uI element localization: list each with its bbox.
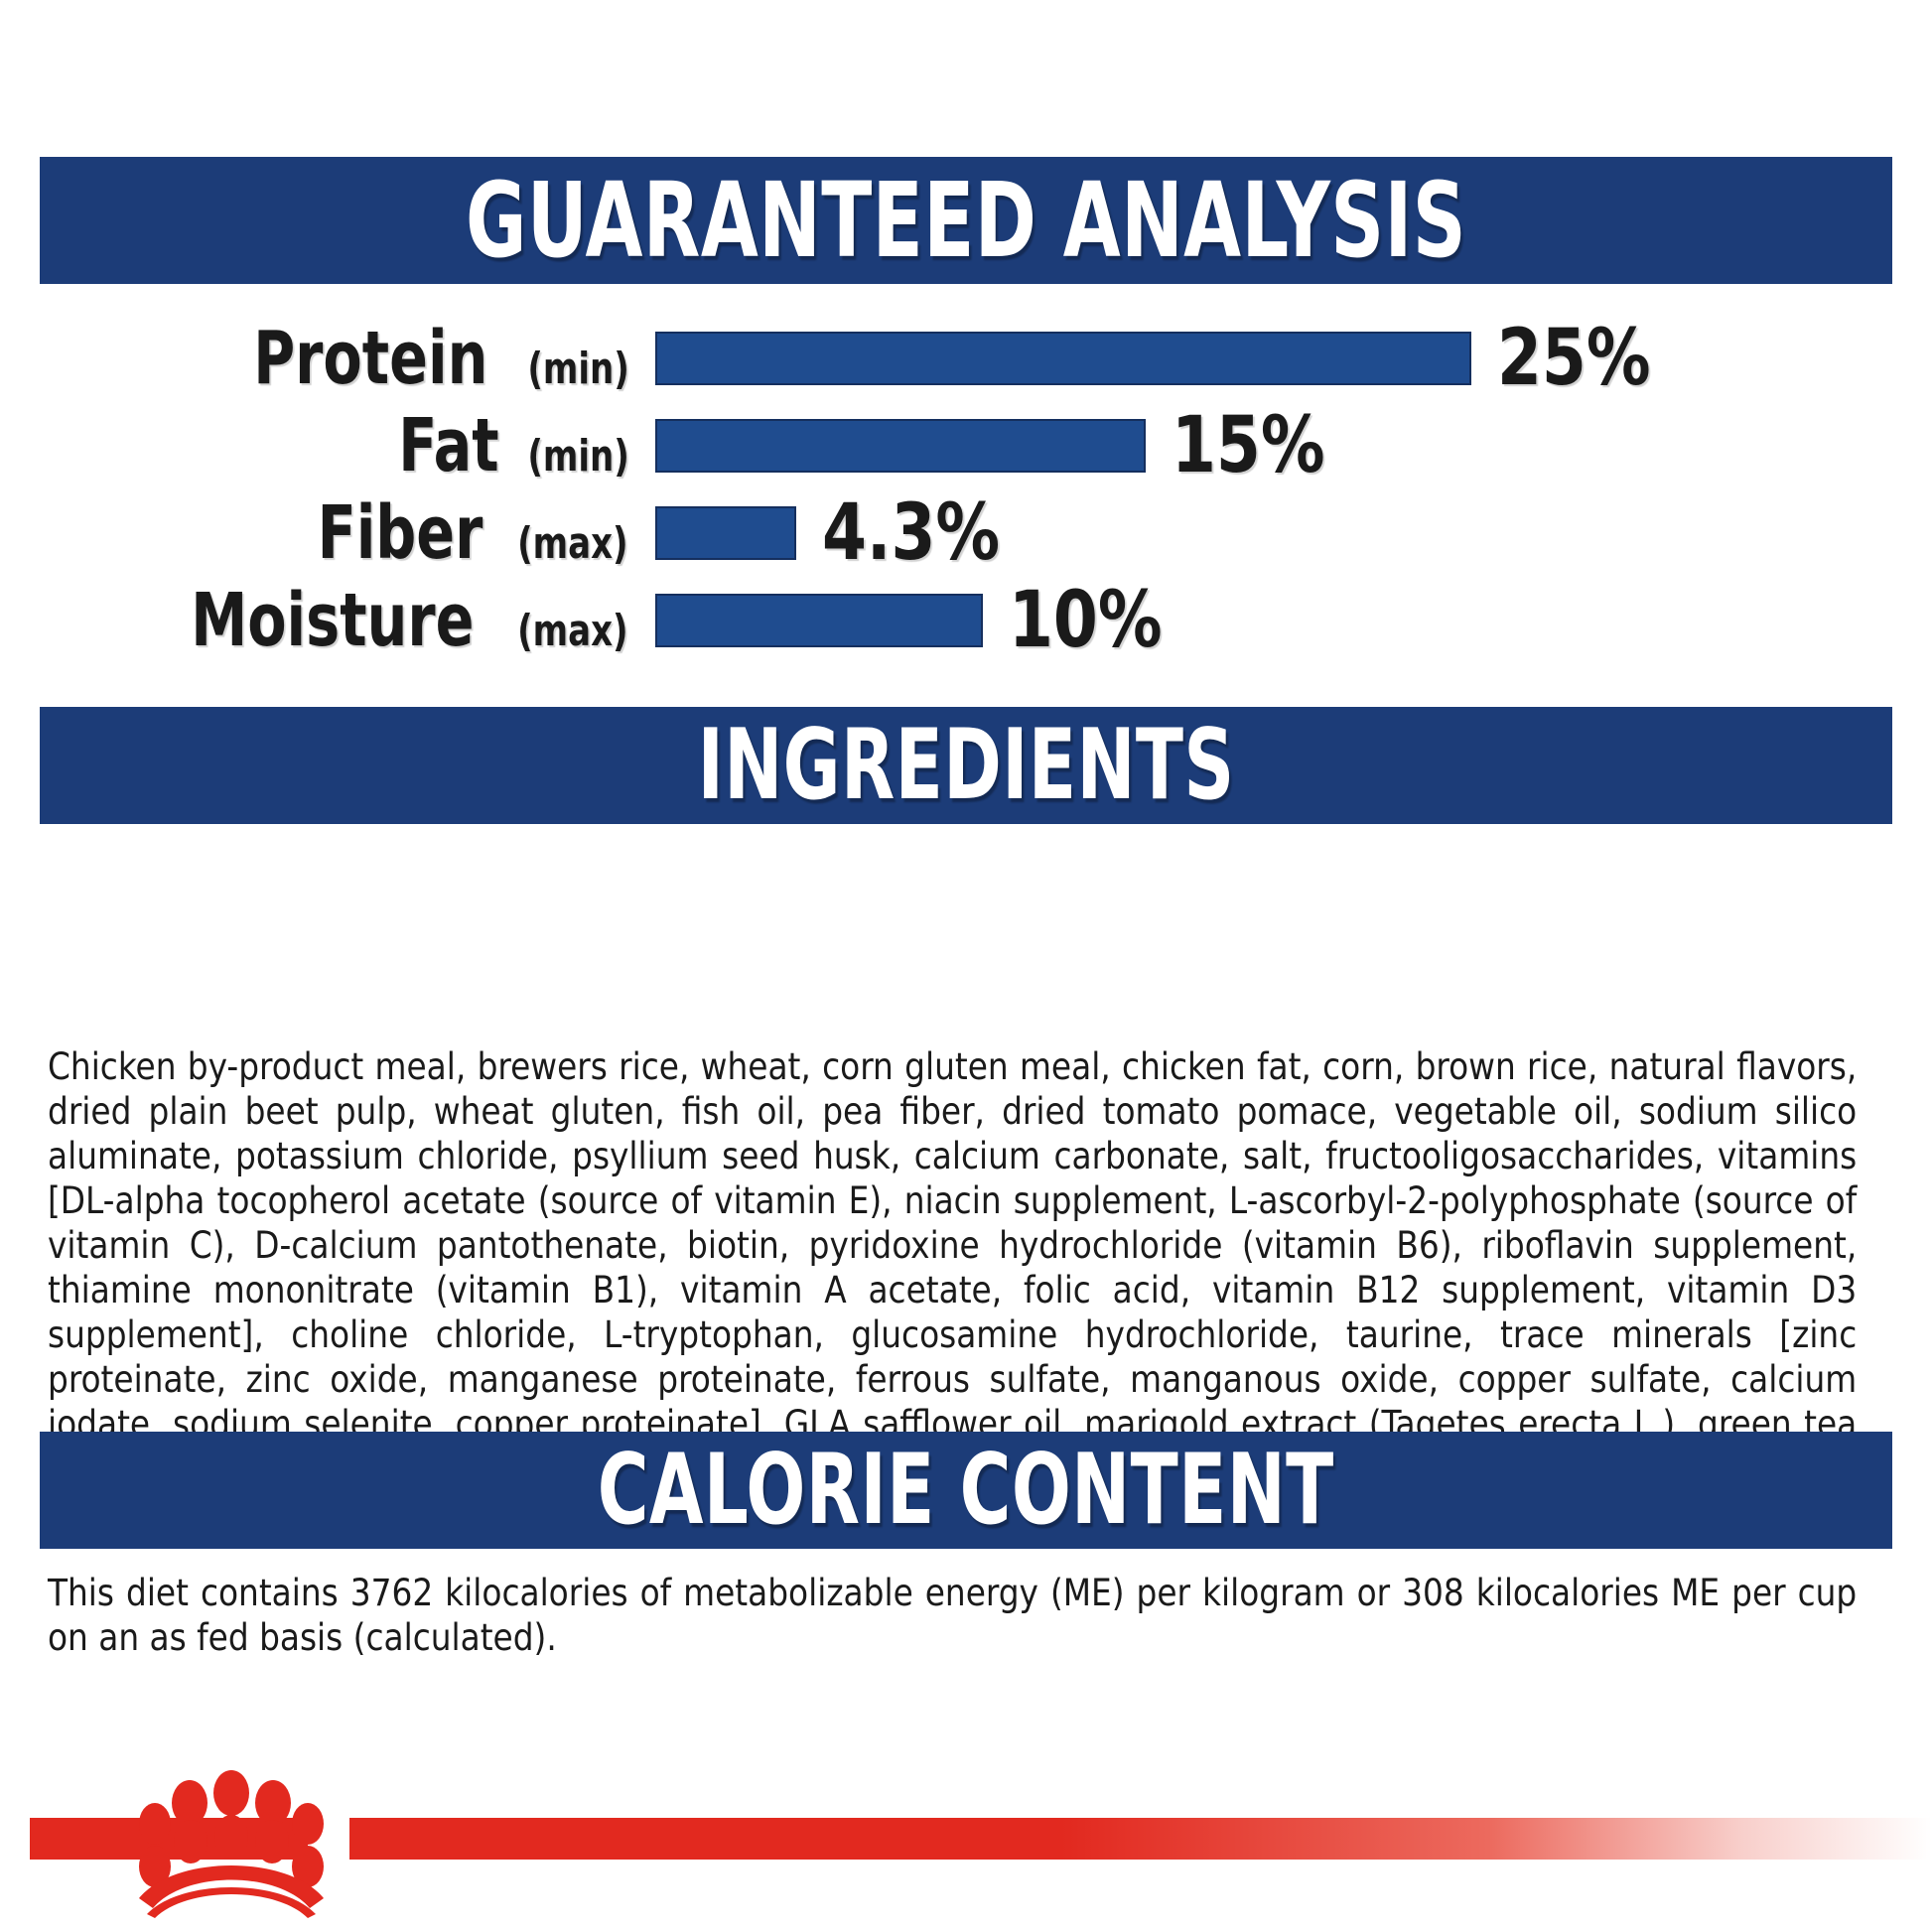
nutrient-label-fat: Fat (min): [40, 409, 655, 483]
ingredients-title: INGREDIENTS: [698, 717, 1235, 814]
nutrient-value-protein: 25%: [1497, 320, 1651, 397]
nutrient-bar-protein: [655, 332, 1471, 385]
nutrient-bar-fiber: [655, 506, 796, 560]
ingredients-header: INGREDIENTS: [40, 707, 1892, 824]
nutrient-row-protein: Protein (min) 25%: [40, 316, 1892, 401]
nutrient-qualifier: (min): [527, 347, 629, 391]
nutrition-label-page: GUARANTEED ANALYSIS Protein (min) 25% Fa…: [0, 0, 1932, 1932]
guaranteed-analysis-title: GUARANTEED ANALYSIS: [466, 169, 1466, 272]
nutrient-name: Fat: [398, 409, 498, 483]
nutrient-name: Moisture: [191, 584, 474, 657]
nutrient-bar-area: 10%: [655, 578, 1892, 663]
royal-canin-crown-logo: [125, 1759, 338, 1918]
calorie-content-body-text: This diet contains 3762 kilocalories of …: [48, 1571, 1857, 1660]
nutrient-label-fiber: Fiber (max): [40, 496, 655, 570]
nutrient-bar-area: 4.3%: [655, 490, 1892, 576]
nutrient-row-fiber: Fiber (max) 4.3%: [40, 490, 1892, 576]
nutrient-label-protein: Protein (min): [40, 322, 655, 395]
nutrient-bar-area: 15%: [655, 403, 1892, 488]
nutrient-bar-area: 25%: [655, 316, 1892, 401]
nutrient-value-fat: 15%: [1172, 407, 1325, 484]
ingredients-body-text: Chicken by-product meal, brewers rice, w…: [48, 1044, 1857, 1491]
footer: [0, 1755, 1932, 1932]
nutrient-value-moisture: 10%: [1009, 582, 1163, 659]
calorie-content-header: CALORIE CONTENT: [40, 1432, 1892, 1549]
nutrient-qualifier: (max): [517, 522, 628, 566]
nutrient-name: Protein: [253, 322, 487, 395]
nutrient-qualifier: (min): [527, 435, 629, 479]
nutrient-name: Fiber: [318, 496, 483, 570]
nutrient-bar-moisture: [655, 594, 983, 647]
nutrient-label-moisture: Moisture (max): [40, 584, 655, 657]
guaranteed-analysis-header: GUARANTEED ANALYSIS: [40, 157, 1892, 284]
nutrient-row-fat: Fat (min) 15%: [40, 403, 1892, 488]
nutrient-bar-fat: [655, 419, 1146, 473]
footer-rule-right: [349, 1818, 1932, 1860]
nutrient-row-moisture: Moisture (max) 10%: [40, 578, 1892, 663]
calorie-content-title: CALORIE CONTENT: [598, 1442, 1334, 1539]
nutrient-value-fiber: 4.3%: [822, 494, 1000, 572]
guaranteed-analysis-chart: Protein (min) 25% Fat (min) 15% Fiber (m…: [40, 316, 1892, 683]
nutrient-qualifier: (max): [517, 610, 628, 653]
